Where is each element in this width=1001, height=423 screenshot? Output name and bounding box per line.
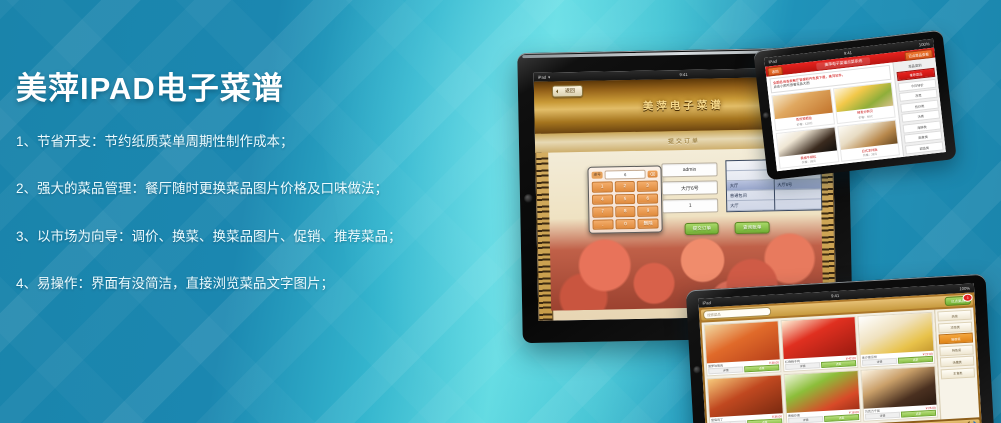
order-subtitle: 提交订单 <box>668 136 700 146</box>
dish-photo <box>859 313 934 355</box>
dish-order-button[interactable]: 点菜 <box>898 356 933 364</box>
carrier-label: iPad <box>768 59 777 65</box>
count-field[interactable]: 1 <box>662 198 718 213</box>
keypad-key-8[interactable]: 8 <box>615 206 636 217</box>
clock-label: 9:41 <box>831 293 839 298</box>
promo-copy: 美萍IPAD电子菜谱 1、节省开支：节约纸质菜单周期性制作成本； 2、强大的菜品… <box>16 72 486 321</box>
dish-detail-button[interactable]: 详情 <box>788 416 823 423</box>
carrier-label: iPad <box>538 75 546 80</box>
battery-label: 100% <box>919 41 930 47</box>
carrier-label: iPad <box>702 300 711 305</box>
dish-card[interactable]: 椒香炒鲜贝 价格：68元 <box>832 82 895 125</box>
dish-order-button[interactable]: 点菜 <box>747 418 782 423</box>
promo-banner: 美萍IPAD电子菜谱 1、节省开支：节约纸质菜单周期性制作成本； 2、强大的菜品… <box>0 0 1001 423</box>
cart-badge: 3 <box>962 294 972 303</box>
category-item-1[interactable]: 凉菜类 <box>938 321 973 333</box>
category-item-5[interactable]: 主食类 <box>941 367 976 379</box>
tablet-bottom-right: iPad 9:41 100% 搜索菜品 已点菜品 3 菠萝咕咾肉 <box>686 274 994 423</box>
dish-photo <box>708 375 783 417</box>
user-field[interactable]: admin <box>661 162 717 177</box>
dish-browser: 返回 美萍电子菜谱点菜系统 已点菜品查看 全国各地各类餐厅管理软件免费下载，美萍… <box>765 48 946 172</box>
dish-photo <box>785 371 860 413</box>
page-title: 美萍IPAD电子菜谱 <box>16 72 486 106</box>
dish-order-button[interactable]: 点菜 <box>744 364 779 372</box>
keypad-key-6[interactable]: 6 <box>637 193 658 204</box>
back-button[interactable]: 返回 <box>552 85 583 98</box>
dish-order-button[interactable]: 点菜 <box>821 360 856 368</box>
category-item-2[interactable]: 推荐菜 <box>939 333 974 345</box>
home-button-icon[interactable] <box>524 194 533 203</box>
menu-body: 菠萝咕咾肉￥38.00 详情点菜 红烧辣子鸡￥42.00 详情点菜 金沙南瓜饼￥… <box>702 307 980 423</box>
feature-bullet-3: 3、以市场为向导：调价、换菜、换菜品图片、促销、推荐菜品； <box>16 227 486 247</box>
keypad-key-2[interactable]: 2 <box>614 181 635 192</box>
dish-grid: 香煎银鳕鱼 价格：128元 椒香炒鲜贝 价格：68元 黑椒牛柳粒 <box>771 82 900 169</box>
table-field[interactable]: 大厅6号 <box>662 180 718 195</box>
keypad-key-3[interactable]: 3 <box>637 181 658 192</box>
clock-label: 9:41 <box>679 72 687 77</box>
dish-card[interactable]: 青椒炒蛋￥18.00 详情点菜 <box>784 370 862 423</box>
query-bill-button[interactable]: 查询账单 <box>735 221 770 234</box>
dish-photo <box>705 321 780 363</box>
keypad-label: 桌号 <box>592 172 603 179</box>
dish-card[interactable]: 红烧辣子鸡￥42.00 详情点菜 <box>781 316 859 372</box>
menu-browser: 搜索菜品 已点菜品 3 菠萝咕咾肉￥38.00 详情点菜 <box>699 292 982 423</box>
category-item-0[interactable]: 热菜 <box>937 310 972 322</box>
order-actions: 提交订单 查询账单 <box>685 221 770 235</box>
dish-detail-button[interactable]: 详情 <box>862 358 897 366</box>
tablet-bottom-right-screen: iPad 9:41 100% 搜索菜品 已点菜品 3 菠萝咕咾肉 <box>698 283 981 423</box>
battery-label: 100% <box>959 286 970 292</box>
keypad-key-7[interactable]: 7 <box>592 206 613 217</box>
keypad-key-4[interactable]: 4 <box>592 194 613 205</box>
feature-bullet-1: 1、节省开支：节约纸质菜单周期性制作成本； <box>16 132 486 152</box>
home-button-icon[interactable] <box>693 366 701 374</box>
dish-list-panel: 全国各地各类餐厅管理软件免费下载，美萍软件。 点击小图可查看菜品大图 香煎银鳕鱼… <box>766 62 903 171</box>
dish-grid: 菠萝咕咾肉￥38.00 详情点菜 红烧辣子鸡￥42.00 详情点菜 金沙南瓜饼￥… <box>702 310 941 423</box>
keypad-grid: 1 2 3 4 5 6 7 8 9 . 0 删除 <box>592 181 659 230</box>
dish-card[interactable]: 金沙南瓜饼￥22.00 详情点菜 <box>857 312 935 368</box>
dish-detail-button[interactable]: 详情 <box>785 362 820 370</box>
dish-card[interactable]: 日式凉拌面 价格：38元 <box>837 119 900 162</box>
keypad-key-5[interactable]: 5 <box>615 193 636 204</box>
dish-card[interactable]: 宫保鸡丁￥36.00 详情点菜 <box>707 374 785 423</box>
backspace-icon[interactable]: ⌫ <box>648 171 658 178</box>
table-area-cell[interactable]: 大厅 <box>727 200 774 211</box>
tablet-top-right-screen: iPad 9:41 100% 返回 美萍电子菜谱点菜系统 已点菜品查看 全国各地… <box>764 39 946 172</box>
dish-browser-body: 全国各地各类餐厅管理软件免费下载，美萍软件。 点击小图可查看菜品大图 香煎银鳕鱼… <box>766 58 946 172</box>
dish-photo <box>782 317 857 359</box>
dish-card[interactable]: 巧克力千层￥26.00 详情点菜 <box>860 366 938 422</box>
cart-button[interactable]: 已点菜品 3 <box>945 296 971 306</box>
category-sidebar: 热菜 凉菜类 推荐菜 特色菜 汤羹类 主食类 <box>934 307 979 419</box>
dish-order-button[interactable]: 点菜 <box>901 410 936 418</box>
dish-card[interactable]: 黑椒牛柳粒 价格：88元 <box>776 126 839 169</box>
feature-bullet-4: 4、易操作：界面有没简洁，直接浏览菜品文字图片； <box>16 274 486 294</box>
feature-bullet-2: 2、强大的菜品管理：餐厅随时更换菜品图片价格及口味做法； <box>16 179 486 199</box>
category-item-3[interactable]: 特色菜 <box>939 344 974 356</box>
keypad-key-delete[interactable]: 删除 <box>638 218 659 229</box>
category-item-4[interactable]: 汤羹类 <box>940 356 975 368</box>
dish-photo <box>862 367 937 409</box>
form-fields: admin 大厅6号 1 <box>661 162 718 217</box>
dish-detail-button[interactable]: 详情 <box>865 412 900 420</box>
keypad-value[interactable]: 6 <box>605 170 646 180</box>
numeric-keypad[interactable]: 桌号 6 ⌫ 1 2 3 4 5 6 7 8 <box>587 165 662 233</box>
keypad-key-0[interactable]: 0 <box>615 218 636 229</box>
keypad-display: 桌号 6 ⌫ <box>592 170 658 180</box>
keypad-key-1[interactable]: 1 <box>592 181 613 192</box>
dish-detail-button[interactable]: 详情 <box>708 366 743 374</box>
keypad-key-9[interactable]: 9 <box>638 206 659 217</box>
keypad-key-dot[interactable]: . <box>592 219 613 230</box>
search-input[interactable]: 搜索菜品 <box>703 307 771 320</box>
submit-order-button[interactable]: 提交订单 <box>685 222 720 235</box>
wifi-icon: ▾ <box>548 75 550 80</box>
dish-order-button[interactable]: 点菜 <box>824 414 859 422</box>
home-button-icon[interactable] <box>762 112 770 120</box>
dish-card[interactable]: 菠萝咕咾肉￥38.00 详情点菜 <box>704 320 782 376</box>
clock-label: 9:41 <box>844 50 853 56</box>
dish-card[interactable]: 香煎银鳕鱼 价格：128元 <box>771 89 834 132</box>
table-number-cell[interactable] <box>775 199 822 210</box>
tablet-top-right: iPad 9:41 100% 返回 美萍电子菜谱点菜系统 已点菜品查看 全国各地… <box>753 30 956 181</box>
